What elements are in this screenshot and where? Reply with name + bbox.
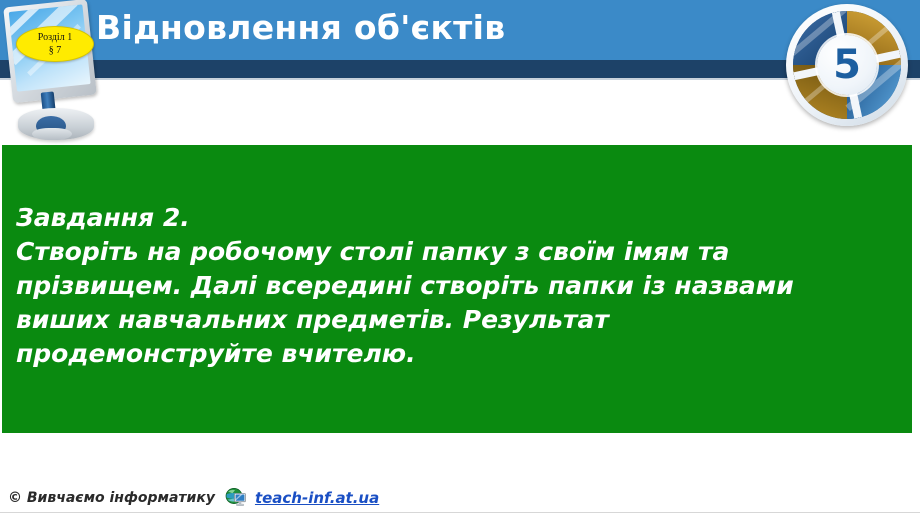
task-line-3: виших навчальних предметів. Результат: [16, 303, 886, 337]
task-line-2: прізвищем. Далі всередині створіть папки…: [16, 269, 886, 303]
footer-site-link[interactable]: teach-inf.at.ua: [255, 489, 379, 507]
globe-monitor-icon: [225, 488, 247, 508]
chapter-badge-line1: Розділ 1: [38, 31, 72, 44]
circle-badge: 5: [786, 4, 908, 126]
content-panel: Завдання 2. Створіть на робочому столі п…: [2, 145, 912, 433]
task-line-4: продемонструйте вчителю.: [16, 337, 886, 371]
slide-root: Відновлення об'єктів Розділ 1 § 7: [0, 0, 920, 518]
header-band-dark: [0, 60, 920, 78]
header-hairline-divider: [0, 78, 920, 80]
task-text-block: Завдання 2. Створіть на робочому столі п…: [16, 201, 886, 371]
footer-bottom-rule: [0, 512, 920, 513]
chapter-badge: Розділ 1 § 7: [16, 26, 94, 62]
footer: © Вивчаємо інформатику teach-inf.at.ua: [0, 483, 920, 513]
monitor-base-foot-icon: [32, 128, 72, 140]
monitor-illustration: Розділ 1 § 7: [2, 0, 110, 142]
page-title: Відновлення об'єктів: [96, 6, 505, 50]
task-line-1: Створіть на робочому столі папку з своїм…: [16, 235, 886, 269]
circle-badge-number: 5: [833, 45, 861, 85]
circle-badge-center: 5: [817, 35, 877, 95]
task-heading: Завдання 2.: [16, 201, 886, 235]
footer-copyright: © Вивчаємо інформатику: [8, 490, 215, 506]
chapter-badge-line2: § 7: [49, 44, 62, 57]
